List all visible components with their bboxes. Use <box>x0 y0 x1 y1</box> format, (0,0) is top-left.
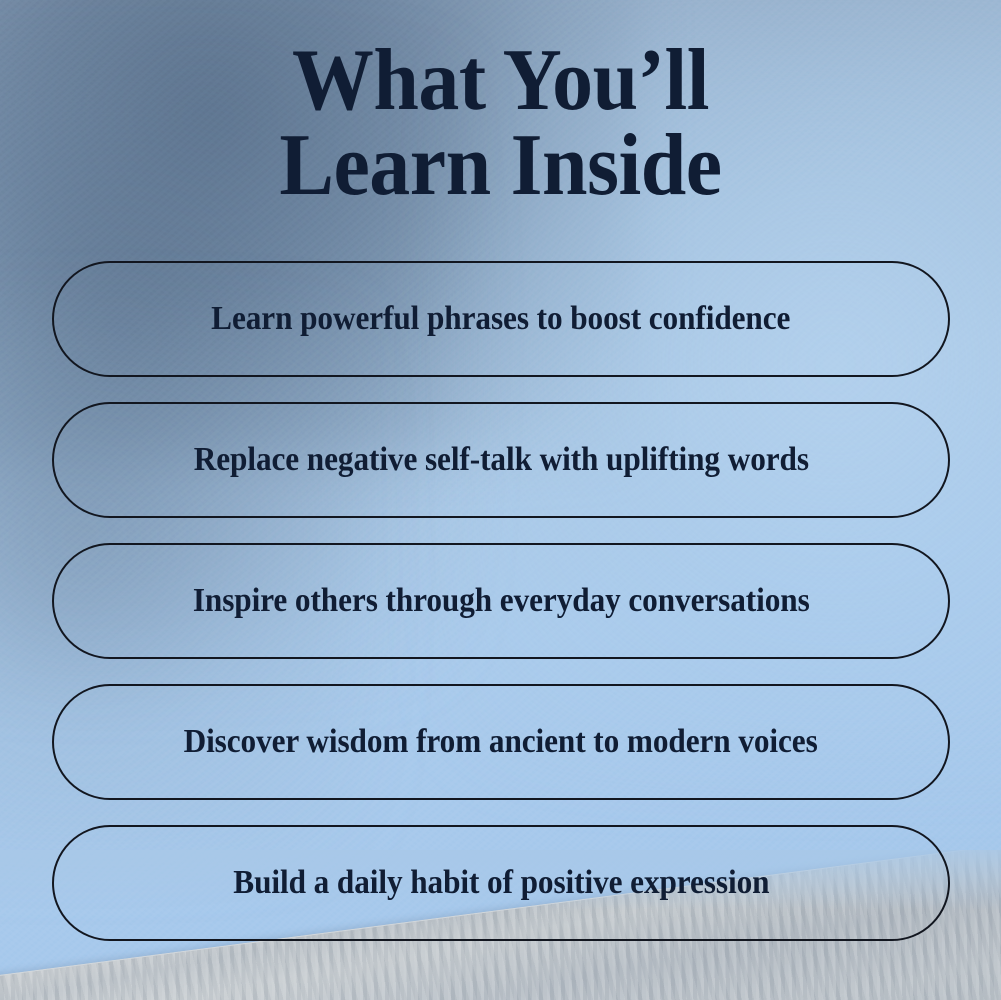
poster-canvas: What You’ll Learn Inside Learn powerful … <box>0 0 1001 1000</box>
benefit-pill-2-label: Replace negative self-talk with upliftin… <box>193 443 808 477</box>
benefit-list: Learn powerful phrases to boost confiden… <box>52 261 950 941</box>
page-title: What You’ll Learn Inside <box>35 38 966 209</box>
benefit-pill-1[interactable]: Learn powerful phrases to boost confiden… <box>52 261 950 377</box>
page-title-line-2: Learn Inside <box>35 123 966 208</box>
benefit-pill-1-label: Learn powerful phrases to boost confiden… <box>211 302 790 336</box>
benefit-pill-3-label: Inspire others through everyday conversa… <box>193 584 810 618</box>
benefit-pill-3[interactable]: Inspire others through everyday conversa… <box>52 543 950 659</box>
benefit-pill-2[interactable]: Replace negative self-talk with upliftin… <box>52 402 950 518</box>
benefit-pill-5-label: Build a daily habit of positive expressi… <box>233 866 769 900</box>
poster-content: What You’ll Learn Inside Learn powerful … <box>0 0 1001 1000</box>
benefit-pill-4-label: Discover wisdom from ancient to modern v… <box>184 725 818 759</box>
page-title-line-1: What You’ll <box>35 38 966 123</box>
benefit-pill-5[interactable]: Build a daily habit of positive expressi… <box>52 825 950 941</box>
benefit-pill-4[interactable]: Discover wisdom from ancient to modern v… <box>52 684 950 800</box>
